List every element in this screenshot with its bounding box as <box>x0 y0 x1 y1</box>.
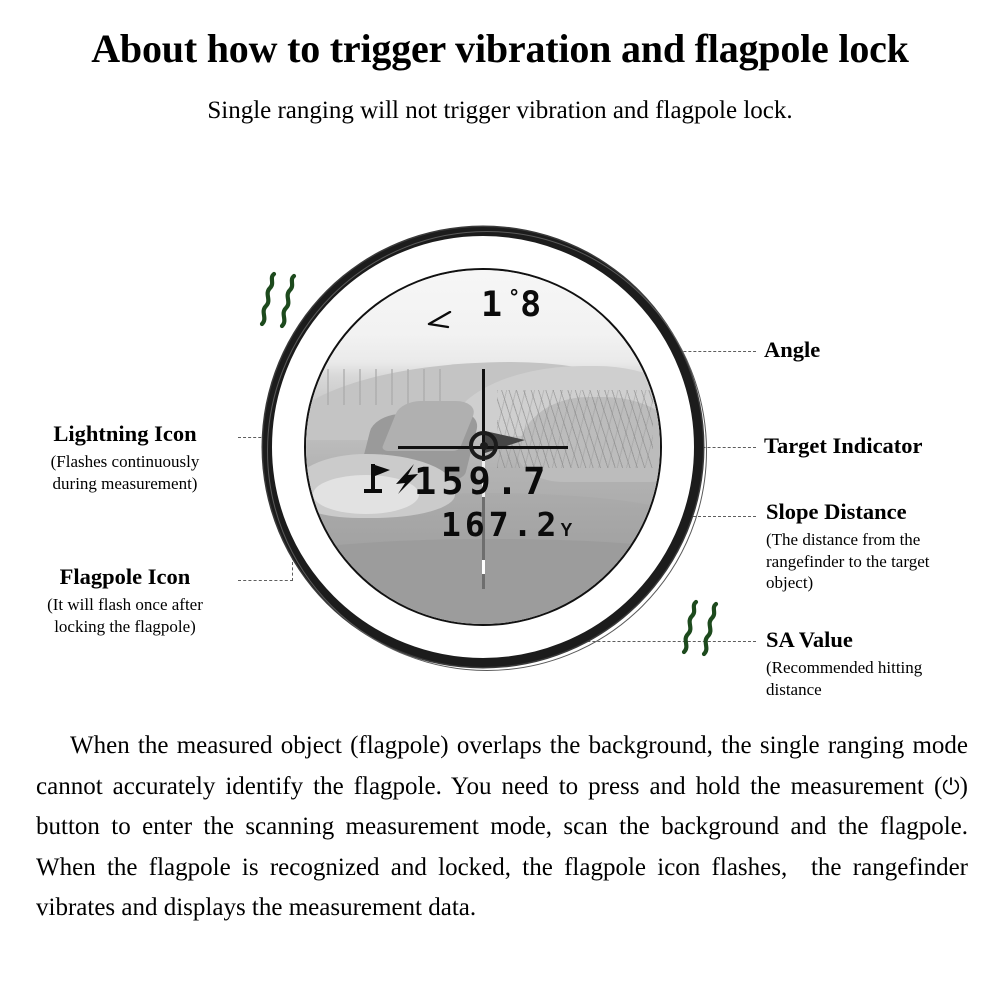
callout-target-indicator: Target Indicator <box>764 434 1000 459</box>
header: About how to trigger vibration and flagp… <box>0 24 1000 126</box>
callout-flagpole-label: Flagpole Icon <box>12 565 238 590</box>
callout-angle-label: Angle <box>764 338 994 363</box>
page-subtitle: Single ranging will not trigger vibratio… <box>0 96 1000 126</box>
reticle-center-dot <box>480 442 488 450</box>
callout-slope-distance: Slope Distance (The distance from the ra… <box>766 500 996 594</box>
lcd-angle-readout: 1°8 <box>481 285 547 325</box>
scope-inner-ring: 1°8 159.7 167.2Y <box>304 268 662 626</box>
lcd-slope-distance: 159.7 <box>414 460 550 503</box>
callout-slope-desc-line3: object) <box>766 572 996 594</box>
callout-flagpole-desc-line2: locking the flagpole) <box>12 616 238 638</box>
angle-icon <box>426 311 452 329</box>
callout-sa-value-label: SA Value <box>766 628 996 653</box>
callout-flagpole-icon: Flagpole Icon (It will flash once after … <box>12 565 238 637</box>
callout-sa-value: SA Value (Recommended hitting distance <box>766 628 996 700</box>
flagpole-icon-glyph <box>364 464 390 493</box>
lcd-degree-symbol: ° <box>508 285 520 309</box>
lcd-sa-number: 167.2 <box>441 505 560 544</box>
paragraph-part1: When the measured object (flagpole) over… <box>36 732 968 800</box>
callout-slope-desc-line1: (The distance from the <box>766 529 996 551</box>
callout-lightning-label: Lightning Icon <box>12 422 238 447</box>
rangefinder-scope: 1°8 159.7 167.2Y <box>263 227 703 667</box>
power-button-icon: ⏻ <box>942 775 959 800</box>
callout-lightning-icon: Lightning Icon (Flashes continuously dur… <box>12 422 238 494</box>
callout-target-indicator-label: Target Indicator <box>764 434 1000 459</box>
callout-slope-distance-label: Slope Distance <box>766 500 996 525</box>
lcd-angle-second-digit: 8 <box>520 285 547 325</box>
callout-slope-distance-desc: (The distance from the rangefinder to th… <box>766 529 996 594</box>
callout-flagpole-desc: (It will flash once after locking the fl… <box>12 594 238 638</box>
callout-lightning-desc: (Flashes continuously during measurement… <box>12 451 238 495</box>
callout-flagpole-desc-line1: (It will flash once after <box>12 594 238 616</box>
lcd-unit-label: Y <box>560 520 572 540</box>
lcd-sa-value: 167.2Y <box>441 505 572 544</box>
callout-lightning-desc-line2: during measurement) <box>12 473 238 495</box>
callout-sa-value-desc: (Recommended hitting distance <box>766 657 996 701</box>
callout-lightning-desc-line1: (Flashes continuously <box>12 451 238 473</box>
crosshair-vertical-lower-white-tick <box>482 560 485 574</box>
body-paragraph: When the measured object (flagpole) over… <box>36 726 968 929</box>
lcd-angle-value: 1 <box>481 285 508 325</box>
callout-sa-desc-line1: (Recommended hitting <box>766 657 996 679</box>
callout-slope-desc-line2: rangefinder to the target <box>766 551 996 573</box>
page-title: About how to trigger vibration and flagp… <box>0 24 1000 74</box>
callout-angle: Angle <box>764 338 994 363</box>
callout-sa-desc-line2: distance <box>766 679 996 701</box>
